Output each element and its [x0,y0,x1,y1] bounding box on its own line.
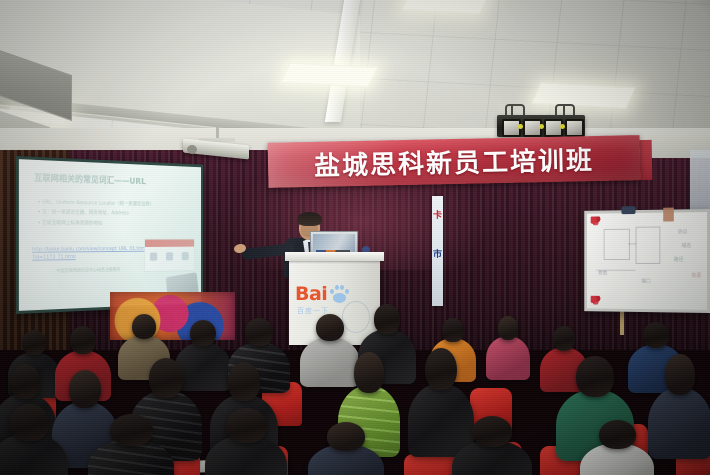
slide-screenshot-thumb [144,239,195,272]
audience-member-torso [648,387,710,459]
audience-member-head [553,326,575,351]
audience-member-head [245,318,274,346]
audience-member-head [374,304,401,334]
curtain-gap-sign: 卡 市 [432,196,443,306]
whiteboard-note-6: 资源 [691,272,701,279]
audience-member-head [354,352,384,393]
whiteboard-note-5: 端口 [641,278,651,285]
podium-top-surface [285,252,384,261]
audience-member-head [665,354,696,395]
whiteboard-diagram-1 [604,229,630,260]
whiteboard-clip [621,206,635,214]
whiteboard-flower-decal-top [591,216,601,225]
audience-member-head [498,316,518,340]
whiteboard-diagram-2 [636,226,661,263]
projector-lens [187,145,197,154]
audience-member-head [472,416,512,447]
audience-member-head [69,370,101,408]
gap-sign-top-char: 卡 [433,210,442,221]
photo-scene: 卡 市 盐城思科新员工培训班 互联网相关的常见词汇——URL URL：Unifo… [0,0,710,475]
whiteboard-note-2: 域名 [682,242,692,249]
audience-member-torso [486,336,530,380]
audience-member-head [442,318,463,342]
chair [404,454,458,475]
audience-member-head [132,314,156,339]
audience-member-head [70,326,96,354]
spotlight-head-4 [565,119,584,137]
whiteboard-tape [663,208,674,222]
audience-member-head [327,422,365,451]
audience: T NO [0,296,710,475]
slide-bullet-2: 又：统一资源定位器、网页地址、Address [38,209,129,217]
audience-member-head [316,314,344,341]
audience-member-head [576,356,613,397]
slide-bullet-1: URL：Uniform Resource Locator（统一资源定位符） [38,199,154,208]
audience-member-head [228,362,261,401]
gap-sign-bottom-char: 市 [433,249,442,260]
presenter-hair [297,212,322,226]
audience-member-head [10,364,40,399]
audience-member-torso [300,337,360,387]
whiteboard-note-3: 路径 [674,256,684,263]
slide-note: 中国互联网络信息中心域名注册服务 [56,267,120,274]
projection-screen: 互联网相关的常见词汇——URL URL：Uniform Resource Loc… [19,159,201,311]
whiteboard-note-4: 参数 [598,270,607,277]
slide-bullet-3: 它是互联网上标准资源的地址 [38,220,103,227]
audience-member-head [643,322,669,348]
slide-link-2: ?id=1173_71.html [32,254,76,261]
audience-member-head [425,348,457,390]
audience-member-head [599,420,636,449]
audience-member-head [190,320,216,346]
audience-member-torso [175,342,231,390]
audience-member-head [226,408,267,443]
whiteboard-note-1: 协议 [678,228,688,235]
spotlight-rig [497,104,585,137]
ceiling-projector [183,135,253,161]
audience-member-head [110,414,153,446]
slide-link-1: http://baike.baidu.com/view/concept_URL_… [32,246,145,254]
event-banner: 盐城思科新员工培训班 [268,135,641,188]
slide-title: 互联网相关的常见词汇——URL [34,171,146,187]
projection-screen-frame: 互联网相关的常见词汇——URL URL：Uniform Resource Loc… [16,156,203,314]
banner-title-text: 盐城思科新员工培训班 [314,140,595,183]
audience-member-head [149,358,184,398]
audience-member-head [10,404,49,441]
audience-member-head [22,330,46,355]
